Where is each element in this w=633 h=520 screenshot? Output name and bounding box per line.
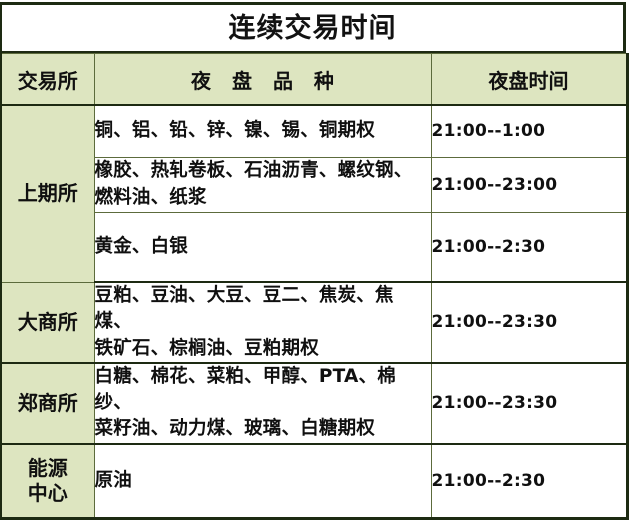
product-cell-1-0: 豆粕、豆油、大豆、豆二、焦炭、焦煤、 铁矿石、棕榈油、豆粕期权 <box>94 282 431 363</box>
product-line: 黄金、白银 <box>95 234 431 260</box>
table-header-row: 交易所 夜 盘 品 种 夜盘时间 <box>1 54 627 106</box>
time-cell-2-0: 21:00--23:30 <box>431 363 627 444</box>
table-row: 能源 中心 原油 21:00--2:30 <box>1 444 627 519</box>
table-row: 上期所 铜、铝、铅、锌、镍、锡、铜期权 21:00--1:00 <box>1 105 627 157</box>
time-cell-0-1: 21:00--23:00 <box>431 157 627 212</box>
exchange-cell-2: 郑商所 <box>1 363 94 444</box>
table-row: 橡胶、热轧卷板、石油沥青、螺纹钢、 燃料油、纸浆 21:00--23:00 <box>1 157 627 212</box>
trading-hours-table: 交易所 夜 盘 品 种 夜盘时间 上期所 铜、铝、铅、锌、镍、锡、铜期权 21:… <box>0 53 629 520</box>
table-body: 上期所 铜、铝、铅、锌、镍、锡、铜期权 21:00--1:00 橡胶、热轧卷板、… <box>1 105 627 519</box>
product-line: 白糖、棉花、菜粕、甲醇、PTA、棉纱、 <box>95 364 431 417</box>
time-cell-0-2: 21:00--2:30 <box>431 212 627 282</box>
sheet-title-band: 连续交易时间 <box>0 2 626 53</box>
product-cell-0-2: 黄金、白银 <box>94 212 431 282</box>
product-cell-3-0: 原油 <box>94 444 431 519</box>
trading-hours-sheet: 连续交易时间 交易所 夜 盘 品 种 夜盘时间 上期所 铜、铝、铅、锌、镍、锡、… <box>0 0 633 500</box>
table-row: 大商所 豆粕、豆油、大豆、豆二、焦炭、焦煤、 铁矿石、棕榈油、豆粕期权 21:0… <box>1 282 627 363</box>
product-line: 原油 <box>95 468 431 494</box>
time-cell-1-0: 21:00--23:30 <box>431 282 627 363</box>
exchange-line: 中心 <box>2 481 94 506</box>
exchange-cell-0: 上期所 <box>1 105 94 282</box>
page-title: 连续交易时间 <box>229 15 397 42</box>
time-cell-3-0: 21:00--2:30 <box>431 444 627 519</box>
product-line: 菜籽油、动力煤、玻璃、白糖期权 <box>95 416 431 442</box>
product-line: 橡胶、热轧卷板、石油沥青、螺纹钢、 <box>95 158 431 184</box>
exchange-cell-1: 大商所 <box>1 282 94 363</box>
exchange-cell-3: 能源 中心 <box>1 444 94 519</box>
product-cell-0-0: 铜、铝、铅、锌、镍、锡、铜期权 <box>94 105 431 157</box>
product-line: 燃料油、纸浆 <box>95 185 431 211</box>
table-row: 黄金、白银 21:00--2:30 <box>1 212 627 282</box>
time-cell-0-0: 21:00--1:00 <box>431 105 627 157</box>
product-cell-2-0: 白糖、棉花、菜粕、甲醇、PTA、棉纱、 菜籽油、动力煤、玻璃、白糖期权 <box>94 363 431 444</box>
product-line: 铜、铝、铅、锌、镍、锡、铜期权 <box>95 118 431 144</box>
column-header-product: 夜 盘 品 种 <box>94 54 431 106</box>
product-line: 豆粕、豆油、大豆、豆二、焦炭、焦煤、 <box>95 283 431 336</box>
table-row: 郑商所 白糖、棉花、菜粕、甲醇、PTA、棉纱、 菜籽油、动力煤、玻璃、白糖期权 … <box>1 363 627 444</box>
product-cell-0-1: 橡胶、热轧卷板、石油沥青、螺纹钢、 燃料油、纸浆 <box>94 157 431 212</box>
product-line: 铁矿石、棕榈油、豆粕期权 <box>95 336 431 362</box>
column-header-time: 夜盘时间 <box>431 54 627 106</box>
exchange-line: 能源 <box>2 456 94 481</box>
column-header-exchange: 交易所 <box>1 54 94 106</box>
